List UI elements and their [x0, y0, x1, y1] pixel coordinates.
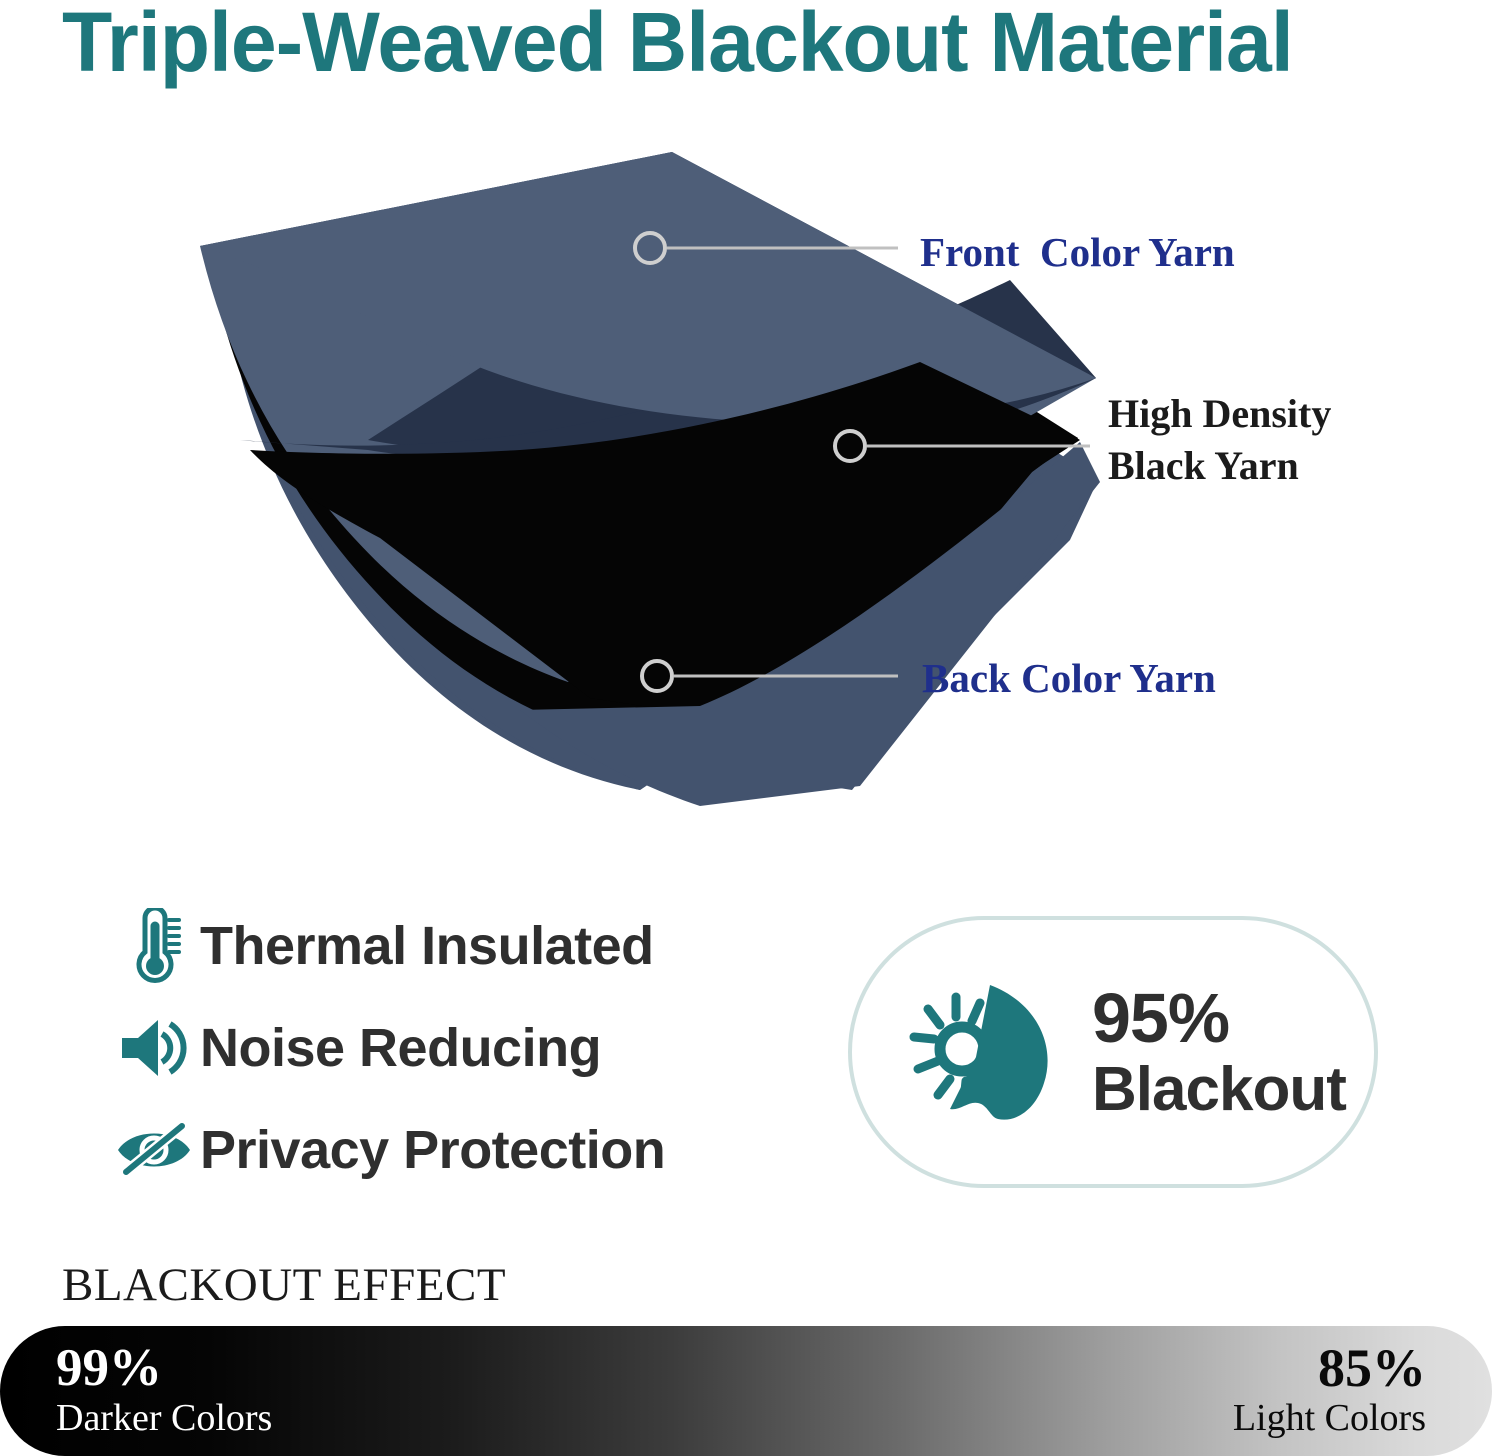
page-title: Triple-Weaved Blackout Material	[62, 0, 1434, 90]
blackout-effect-light-colors: 85% Light Colors	[1233, 1340, 1426, 1440]
feature-label: Noise Reducing	[200, 1019, 601, 1077]
feature-label: Thermal Insulated	[200, 917, 654, 975]
light-colors-percent: 85%	[1233, 1340, 1426, 1396]
callout-label-line1: High Density	[1108, 391, 1331, 436]
eye-slash-icon	[108, 1120, 200, 1180]
feature-list: Thermal Insulated Noise Reducing Privacy…	[108, 898, 808, 1204]
callout-label-line2: Black Yarn	[1108, 440, 1331, 492]
thermometer-icon	[108, 908, 200, 984]
callout-label-front-color-yarn: Front Color Yarn	[920, 228, 1235, 276]
blackout-percentage-badge: 95% Blackout	[848, 916, 1378, 1188]
feature-item-privacy-protection: Privacy Protection	[108, 1102, 808, 1198]
sun-behind-curtain-icon	[894, 977, 1074, 1127]
blackout-effect-heading: BLACKOUT EFFECT	[62, 1258, 506, 1312]
darker-colors-percent: 99%	[56, 1340, 272, 1396]
blackout-word: Blackout	[1092, 1056, 1346, 1124]
callout-label-back-color-yarn: Back Color Yarn	[922, 654, 1216, 702]
darker-colors-label: Darker Colors	[56, 1396, 272, 1440]
light-colors-label: Light Colors	[1233, 1396, 1426, 1440]
blackout-effect-darker-colors: 99% Darker Colors	[56, 1340, 272, 1440]
blackout-badge-text: 95% Blackout	[1092, 980, 1346, 1124]
feature-label: Privacy Protection	[200, 1121, 665, 1179]
feature-item-thermal-insulated: Thermal Insulated	[108, 898, 808, 994]
callout-label-high-density-black-yarn: High DensityBlack Yarn	[1108, 388, 1331, 492]
feature-item-noise-reducing: Noise Reducing	[108, 1000, 808, 1096]
blackout-percent-value: 95%	[1092, 980, 1346, 1056]
speaker-sound-icon	[108, 1016, 200, 1080]
